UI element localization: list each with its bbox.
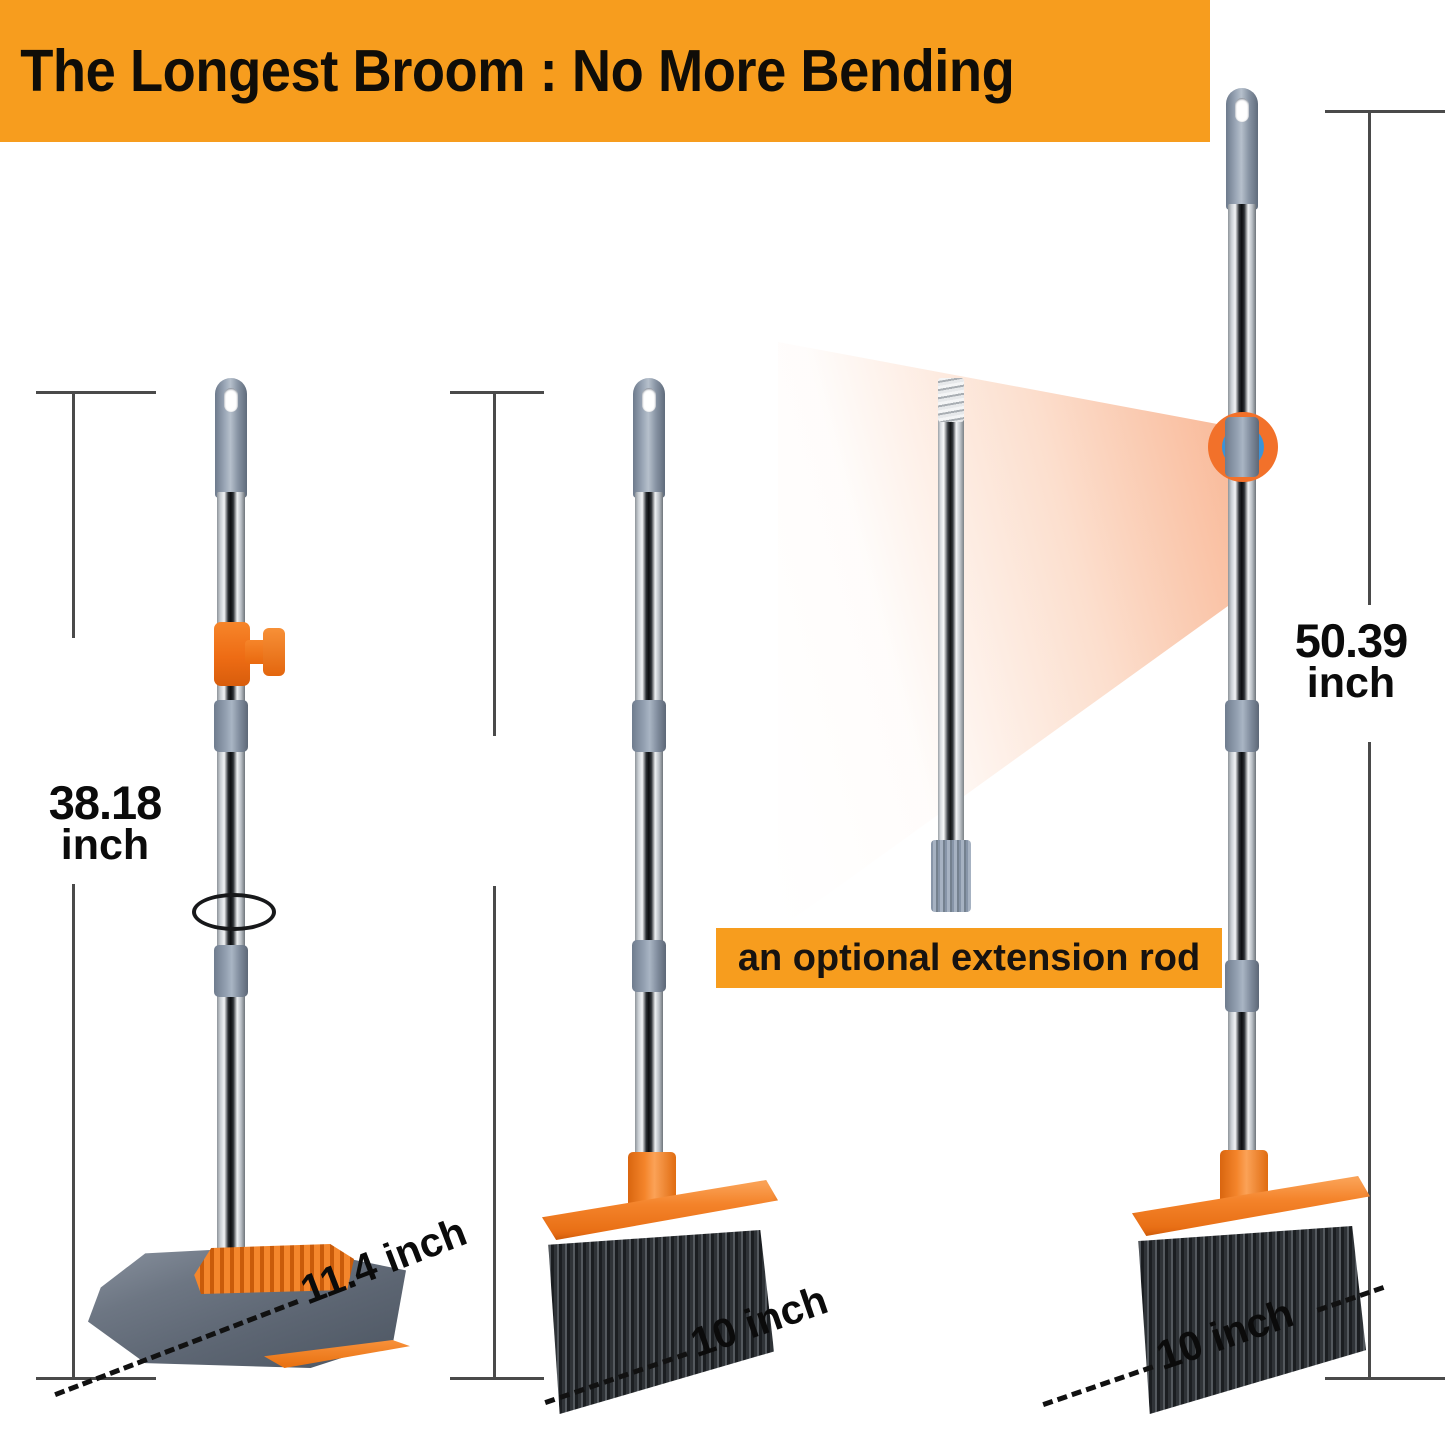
- rotation-ellipse-product-1: [192, 893, 276, 931]
- extension-rod-thread: [938, 378, 964, 422]
- infographic-canvas: The Longest Broom : No More Bending 38.1…: [0, 0, 1445, 1443]
- pole-shaft: [217, 492, 245, 1252]
- extension-rod-ferrule: [931, 840, 971, 912]
- pole-joint-upper-product-4: [1225, 700, 1259, 752]
- page-title: The Longest Broom : No More Bending: [0, 37, 1014, 105]
- extension-highlight-beam: [778, 330, 1228, 930]
- dimension-line-left-lower: [72, 884, 75, 1380]
- height-unit-product-4: inch: [1256, 663, 1445, 704]
- pole-joint-lower-product-4: [1225, 960, 1259, 1012]
- dimension-line-middle-upper: [493, 391, 496, 736]
- broom-head-product-2: [540, 1152, 790, 1412]
- height-value-product-4: 50.39: [1256, 618, 1445, 663]
- extension-rod: [938, 418, 964, 848]
- pole-joint-upper-product-2: [632, 700, 666, 752]
- dimension-line-middle-lower: [493, 886, 496, 1378]
- pole-joint-lower-product-1: [214, 945, 248, 997]
- dimension-tick-top-right: [1325, 110, 1445, 113]
- extension-rod-caption-band: an optional extension rod: [716, 928, 1222, 988]
- pole-product-2: [635, 492, 663, 1172]
- dimension-tick-top-middle: [450, 391, 544, 394]
- handle-hanging-hole-product-2: [642, 388, 656, 412]
- header-banner: The Longest Broom : No More Bending: [0, 0, 1210, 142]
- height-value-product-1: 38.18: [10, 780, 200, 825]
- pole-product-4: [1228, 204, 1256, 1169]
- dimension-tick-top-left: [36, 391, 156, 394]
- dimension-line-left: [72, 391, 75, 638]
- height-label-product-4: 50.39 inch: [1256, 618, 1445, 704]
- height-label-product-1: 38.18 inch: [10, 780, 200, 866]
- dimension-line-right-upper: [1368, 110, 1371, 605]
- handle-hanging-hole-product-1: [224, 388, 238, 412]
- pole-shaft: [635, 492, 663, 1172]
- extension-rod-shaft: [938, 418, 964, 848]
- pole-joint-lower-product-2: [632, 940, 666, 992]
- pole-product-1: [217, 492, 245, 1252]
- extension-rod-caption: an optional extension rod: [738, 937, 1200, 980]
- handle-hanging-hole-product-4: [1235, 98, 1249, 122]
- pole-shaft: [1228, 204, 1256, 1169]
- dimension-tick-bottom-middle: [450, 1377, 544, 1380]
- pole-joint-extension-product-4: [1225, 417, 1259, 477]
- pole-joint-upper-product-1: [214, 700, 248, 752]
- height-unit-product-1: inch: [10, 825, 200, 866]
- clip-knob-product-1: [263, 628, 285, 676]
